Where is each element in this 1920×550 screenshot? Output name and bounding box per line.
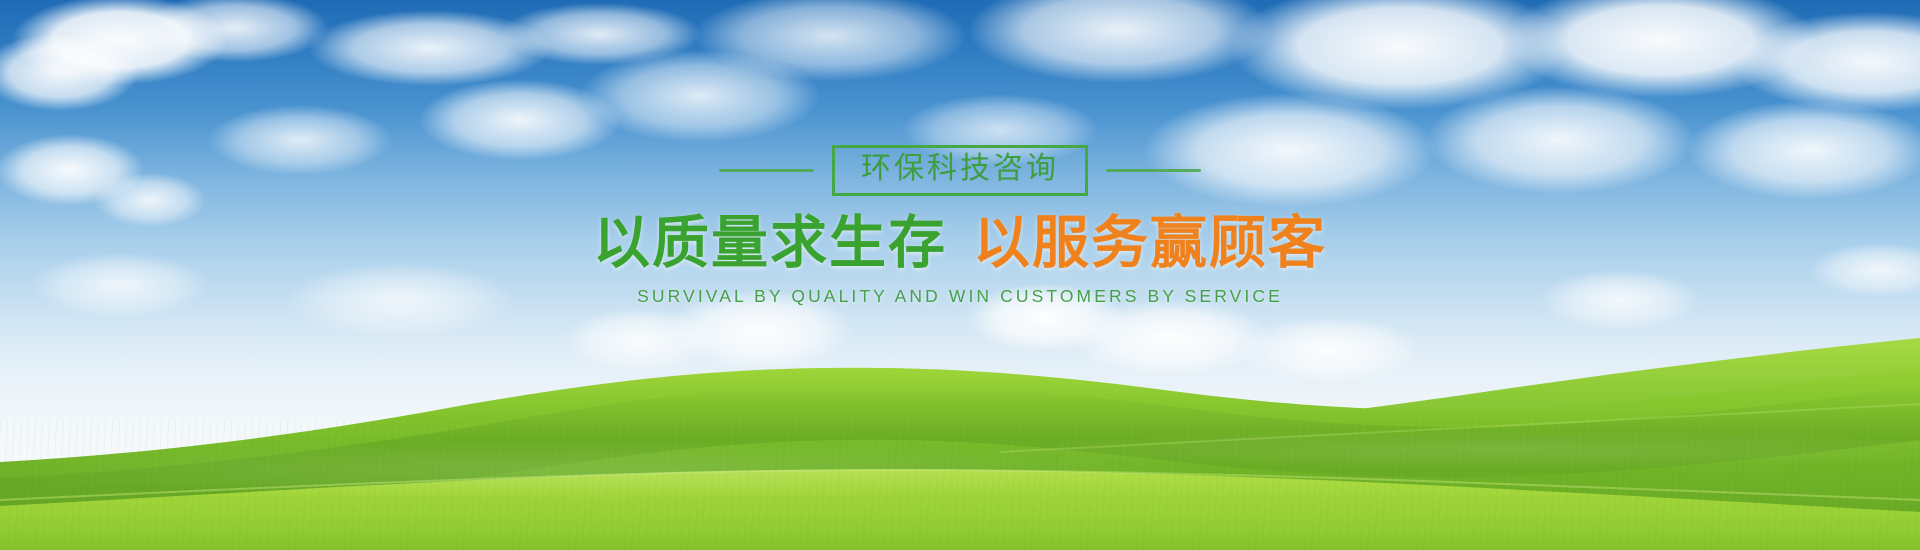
headline-green-part: 以质量求生存: [593, 210, 947, 276]
badge-box: 环保科技咨询: [832, 145, 1088, 196]
hero-banner: 环保科技咨询 以质量求生存以服务赢顾客 SURVIVAL BY QUALITY …: [0, 0, 1920, 550]
subtitle: SURVIVAL BY QUALITY AND WIN CUSTOMERS BY…: [0, 286, 1920, 307]
right-rule-decoration: [1106, 169, 1201, 172]
badge-label: 环保科技咨询: [861, 151, 1059, 186]
banner-copy: 环保科技咨询 以质量求生存以服务赢顾客 SURVIVAL BY QUALITY …: [0, 140, 1920, 307]
headline-orange-part: 以服务赢顾客: [973, 210, 1327, 276]
badge-row: 环保科技咨询: [0, 140, 1920, 200]
left-rule-decoration: [719, 169, 814, 172]
headline: 以质量求生存以服务赢顾客: [0, 214, 1920, 274]
